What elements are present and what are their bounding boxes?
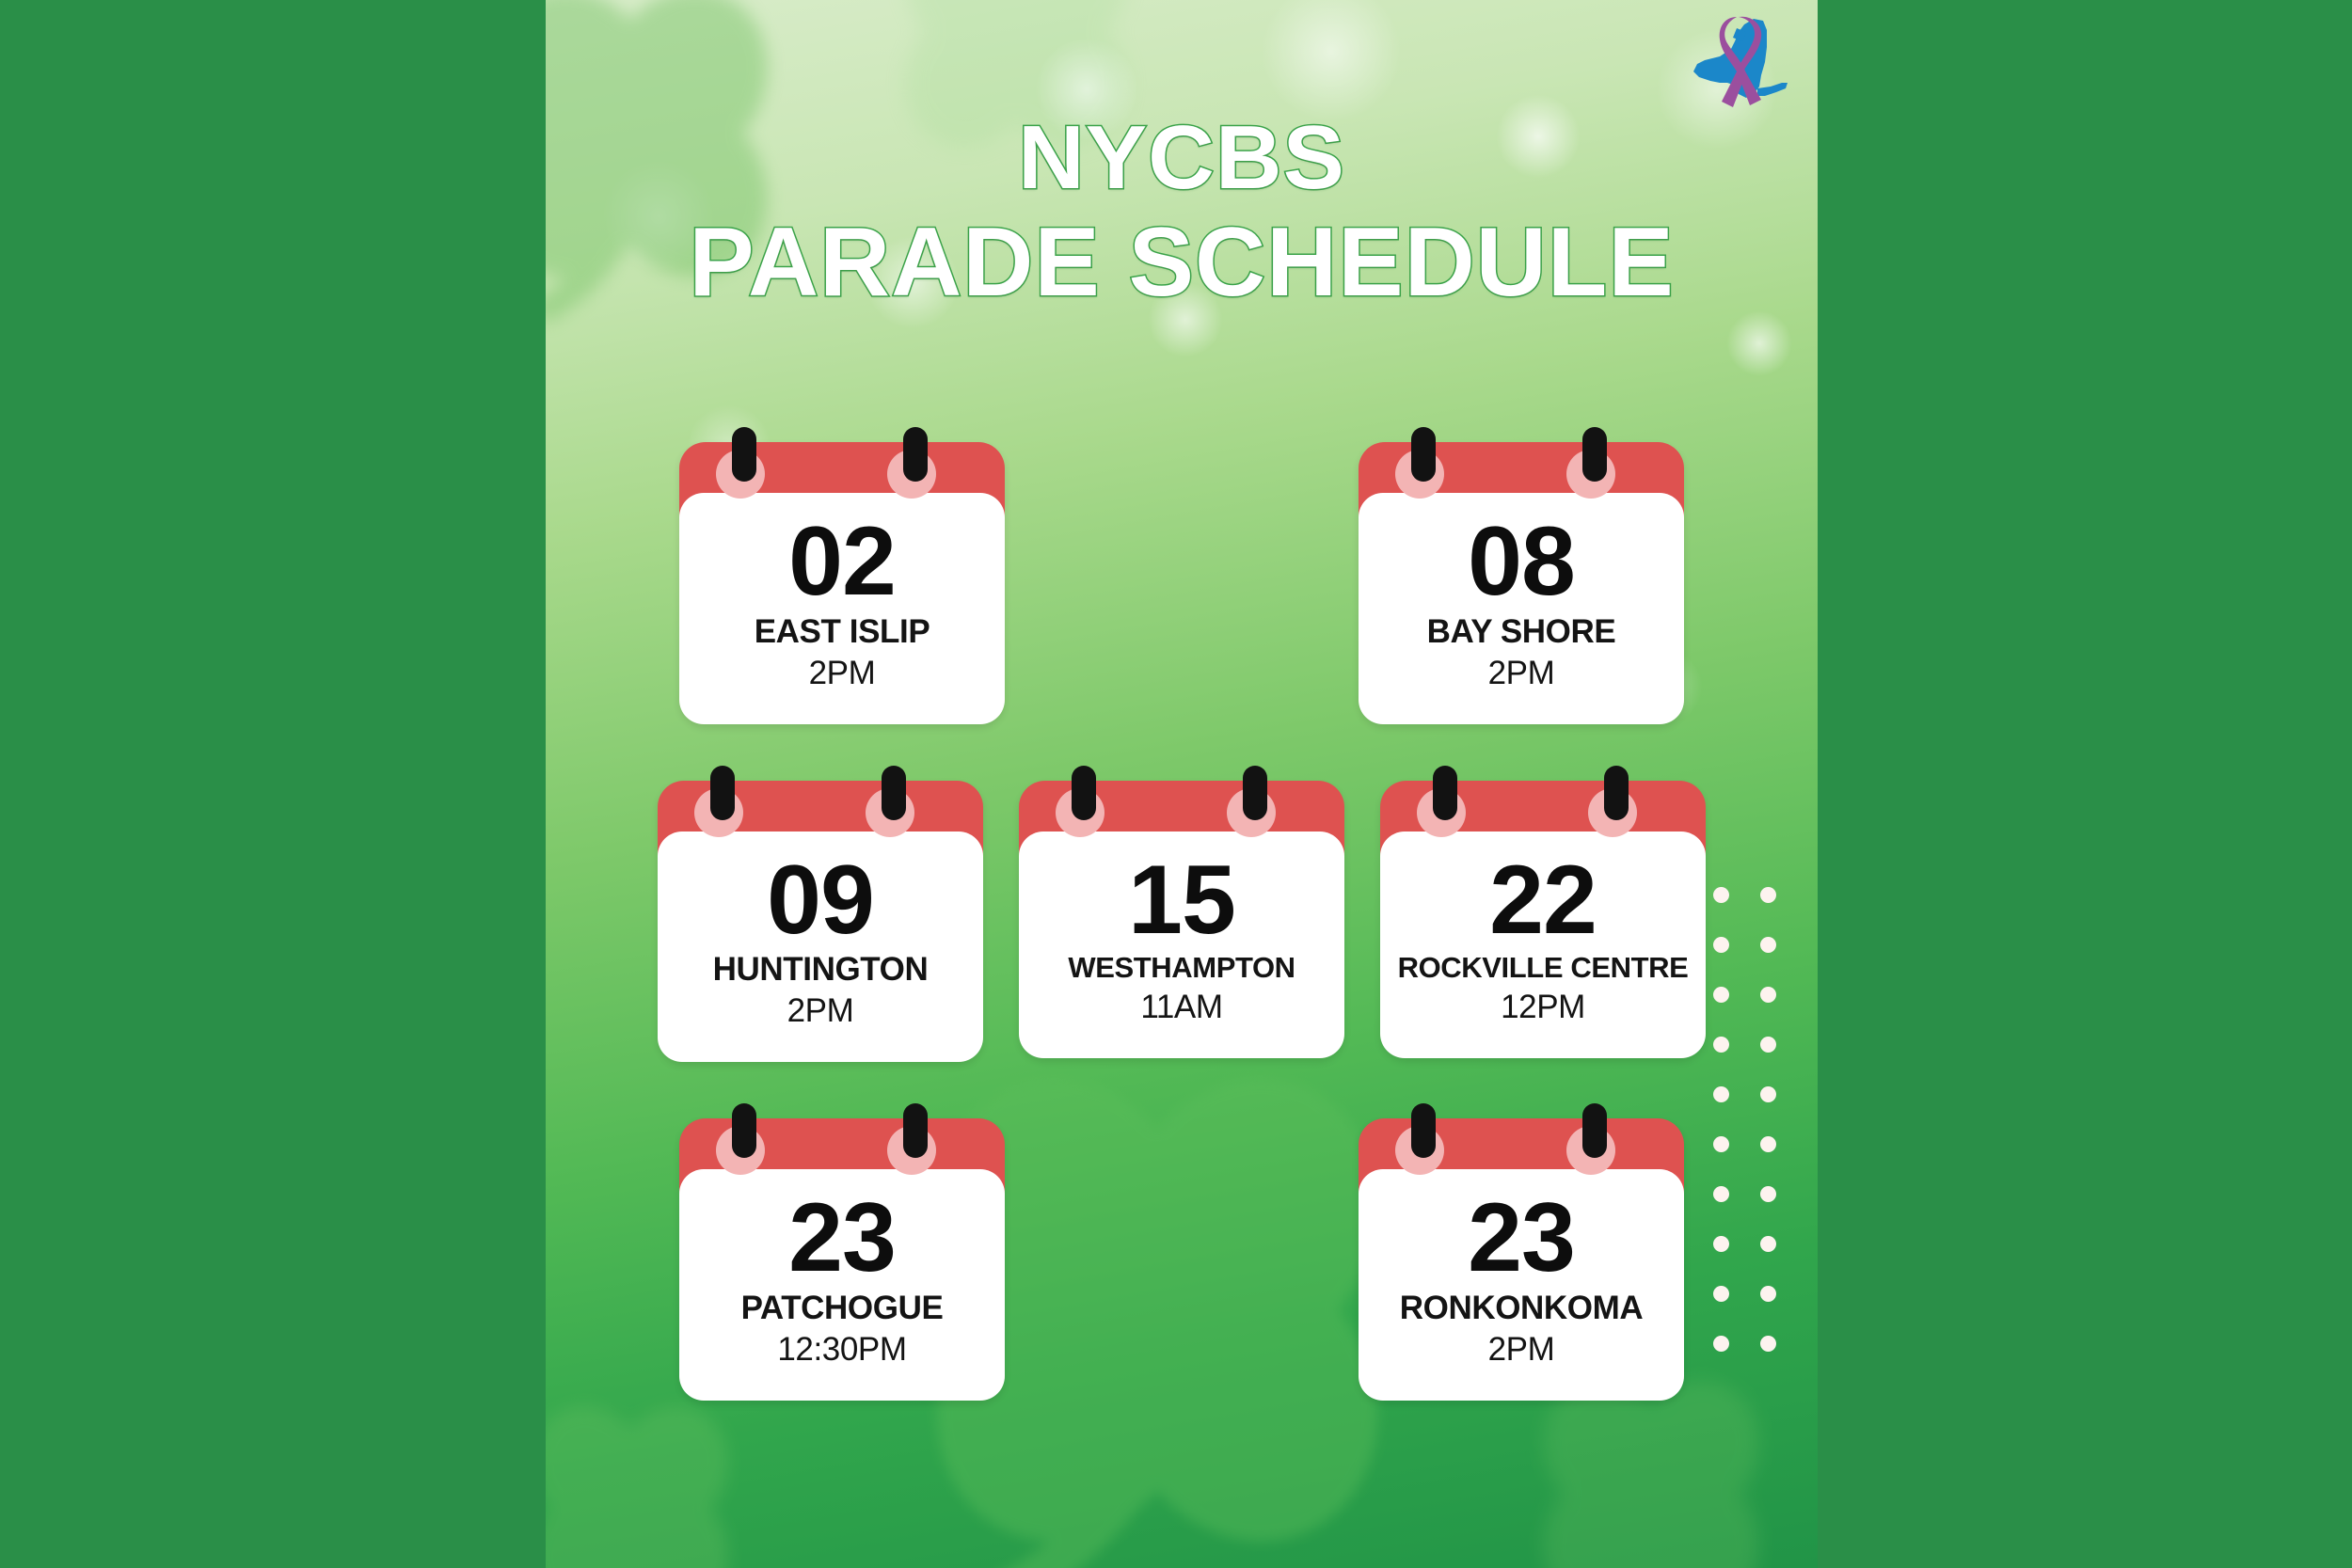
calendar-day-number: 09 [671, 856, 970, 946]
ring-pin [1411, 427, 1436, 482]
calendar-header: 23 RONKONKOMA 2PM [1359, 1118, 1684, 1401]
calendar-time: 12:30PM [692, 1331, 992, 1369]
calendar-location: PATCHOGUE [692, 1290, 992, 1327]
calendar-day-number: 08 [1372, 517, 1671, 608]
schedule-row: 09 HUNTINGTON 2PM [546, 764, 1818, 1063]
title-line-1: NYCBS [546, 115, 1818, 201]
ring-pin [1604, 766, 1629, 820]
calendar-location: HUNTINGTON [671, 951, 970, 989]
decorative-dot [1713, 987, 1729, 1003]
calendar-time: 2PM [671, 992, 970, 1030]
ring-pin [1433, 766, 1457, 820]
calendar-card[interactable]: 15 WESTHAMPTON 11AM [1019, 764, 1344, 1063]
decorative-dot [1713, 887, 1729, 903]
calendar-card[interactable]: 08 BAY SHORE 2PM [1359, 425, 1684, 724]
calendar-card[interactable]: 23 RONKONKOMA 2PM [1359, 1101, 1684, 1401]
ring-pin [882, 766, 906, 820]
calendar-body: 02 EAST ISLIP 2PM [679, 493, 1005, 724]
calendar-rings [1359, 1103, 1684, 1160]
bokeh-glow [866, 235, 960, 329]
calendar-rings [1380, 766, 1706, 822]
ring-pin [1243, 766, 1267, 820]
decorative-dot [1760, 1136, 1776, 1152]
calendar-card[interactable]: 23 PATCHOGUE 12:30PM [679, 1101, 1005, 1401]
ring-pin [903, 1103, 928, 1158]
schedule-row: 23 PATCHOGUE 12:30PM [546, 1101, 1818, 1401]
calendar-rings [679, 1103, 1005, 1160]
bokeh-glow [1261, 0, 1402, 122]
decorative-dot [1760, 1086, 1776, 1102]
decorative-dot [1713, 1236, 1729, 1252]
calendar-rings [1359, 427, 1684, 483]
decorative-dot [1713, 1037, 1729, 1053]
decorative-dot [1760, 887, 1776, 903]
calendar-header: 02 EAST ISLIP 2PM [679, 442, 1005, 724]
calendar-time: 11AM [1032, 989, 1331, 1026]
calendar-location: BAY SHORE [1372, 613, 1671, 651]
decorative-dot [1713, 937, 1729, 953]
page-background: NYCBS PARADE SCHEDULE [0, 0, 2352, 1568]
ring-pin [1582, 1103, 1607, 1158]
calendar-rings [658, 766, 983, 822]
bokeh-glow [602, 160, 715, 273]
calendar-day-number: 15 [1032, 856, 1331, 946]
ring-pin [1072, 766, 1096, 820]
ring-pin [732, 427, 756, 482]
decorative-dot [1713, 1086, 1729, 1102]
calendar-time: 2PM [692, 655, 992, 692]
decorative-dot [1760, 1186, 1776, 1202]
calendar-day-number: 23 [1372, 1194, 1671, 1284]
calendar-card[interactable]: 22 ROCKVILLE CENTRE 12PM [1380, 764, 1706, 1063]
calendar-card[interactable]: 02 EAST ISLIP 2PM [679, 425, 1005, 724]
decorative-dot [1760, 987, 1776, 1003]
ring-pin [1582, 427, 1607, 482]
title-line-2: PARADE SCHEDULE [546, 216, 1818, 310]
ring-pin [710, 766, 735, 820]
ring-pin [903, 427, 928, 482]
calendar-day-number: 23 [692, 1194, 992, 1284]
decorative-dot [1760, 937, 1776, 953]
shamrock-icon [546, 1373, 771, 1568]
calendar-header: 15 WESTHAMPTON 11AM [1019, 781, 1344, 1059]
decorative-dot [1713, 1336, 1729, 1352]
schedule-row: 02 EAST ISLIP 2PM [546, 425, 1818, 724]
bokeh-glow [1496, 94, 1581, 179]
calendar-body: 08 BAY SHORE 2PM [1359, 493, 1684, 724]
bokeh-glow [1726, 310, 1792, 376]
calendar-location: RONKONKOMA [1372, 1290, 1671, 1327]
parade-schedule-grid: 02 EAST ISLIP 2PM [546, 425, 1818, 1401]
calendar-body: 15 WESTHAMPTON 11AM [1019, 832, 1344, 1059]
calendar-card[interactable]: 09 HUNTINGTON 2PM [658, 764, 983, 1063]
shamrock-icon [856, 0, 1176, 198]
calendar-day-number: 02 [692, 517, 992, 608]
calendar-day-number: 22 [1393, 856, 1692, 946]
calendar-location: WESTHAMPTON [1032, 951, 1331, 985]
parade-schedule-poster: NYCBS PARADE SCHEDULE [546, 0, 1818, 1568]
calendar-location: EAST ISLIP [692, 613, 992, 651]
calendar-time: 2PM [1372, 1331, 1671, 1369]
calendar-rings [1019, 766, 1344, 822]
calendar-body: 23 RONKONKOMA 2PM [1359, 1169, 1684, 1401]
calendar-time: 2PM [1372, 655, 1671, 692]
decorative-dot [1760, 1037, 1776, 1053]
decorative-dot [1760, 1236, 1776, 1252]
nycbs-logo[interactable] [1684, 8, 1797, 113]
dot-grid-decoration [1697, 870, 1791, 1369]
calendar-body: 22 ROCKVILLE CENTRE 12PM [1380, 832, 1706, 1059]
page-title: NYCBS PARADE SCHEDULE [546, 115, 1818, 310]
decorative-dot [1760, 1336, 1776, 1352]
calendar-header: 23 PATCHOGUE 12:30PM [679, 1118, 1005, 1401]
long-island-shape [1757, 83, 1788, 96]
calendar-header: 22 ROCKVILLE CENTRE 12PM [1380, 781, 1706, 1059]
calendar-location: ROCKVILLE CENTRE [1393, 951, 1692, 985]
decorative-dot [1760, 1286, 1776, 1302]
calendar-header: 09 HUNTINGTON 2PM [658, 781, 983, 1063]
decorative-dot [1713, 1186, 1729, 1202]
bokeh-glow [1148, 282, 1223, 357]
ring-pin [1411, 1103, 1436, 1158]
calendar-header: 08 BAY SHORE 2PM [1359, 442, 1684, 724]
calendar-rings [679, 427, 1005, 483]
ring-pin [732, 1103, 756, 1158]
bokeh-glow [1035, 38, 1138, 141]
decorative-dot [1713, 1136, 1729, 1152]
calendar-time: 12PM [1393, 989, 1692, 1026]
shamrock-icon [546, 0, 828, 339]
calendar-body: 23 PATCHOGUE 12:30PM [679, 1169, 1005, 1401]
decorative-dot [1713, 1286, 1729, 1302]
calendar-body: 09 HUNTINGTON 2PM [658, 832, 983, 1063]
